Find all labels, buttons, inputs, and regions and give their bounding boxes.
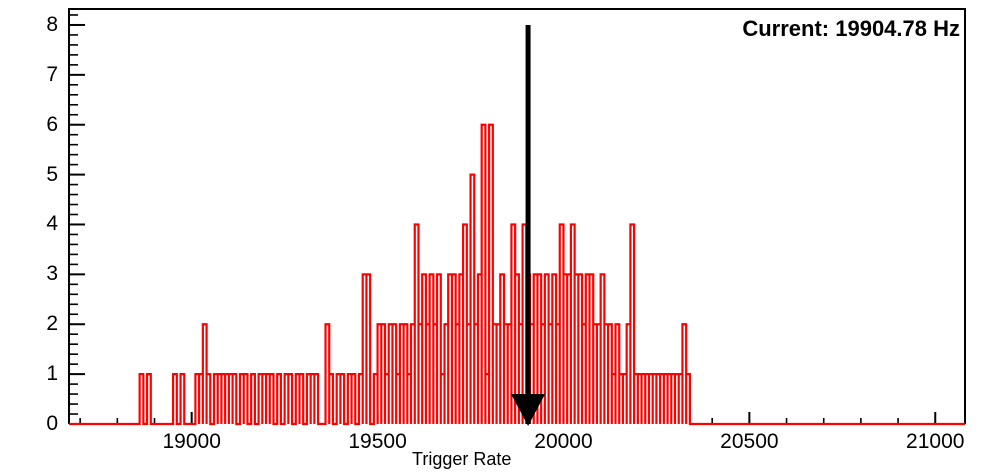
y-tick-label: 1: [30, 363, 58, 384]
y-tick-label: 2: [30, 313, 58, 334]
x-axis-title: Trigger Rate: [412, 449, 511, 470]
x-tick-label: 21000: [875, 431, 995, 452]
x-tick-label: 20500: [689, 431, 809, 452]
bars-group: [69, 125, 965, 424]
y-tick-label: 0: [30, 413, 58, 434]
x-tick-label: 19000: [132, 431, 252, 452]
axes-group: [69, 15, 935, 424]
y-tick-label: 6: [30, 114, 58, 135]
current-rate-readout: Current: 19904.78 Hz: [742, 16, 960, 42]
y-tick-label: 5: [30, 164, 58, 185]
x-tick-label: 20000: [503, 431, 623, 452]
y-tick-label: 8: [30, 14, 58, 35]
chart-svg: [0, 0, 996, 472]
y-tick-label: 3: [30, 263, 58, 284]
histogram-canvas: 012345678 1900019500200002050021000 Trig…: [0, 0, 996, 472]
y-tick-label: 7: [30, 64, 58, 85]
histogram-outline: [69, 125, 965, 424]
y-tick-label: 4: [30, 213, 58, 234]
